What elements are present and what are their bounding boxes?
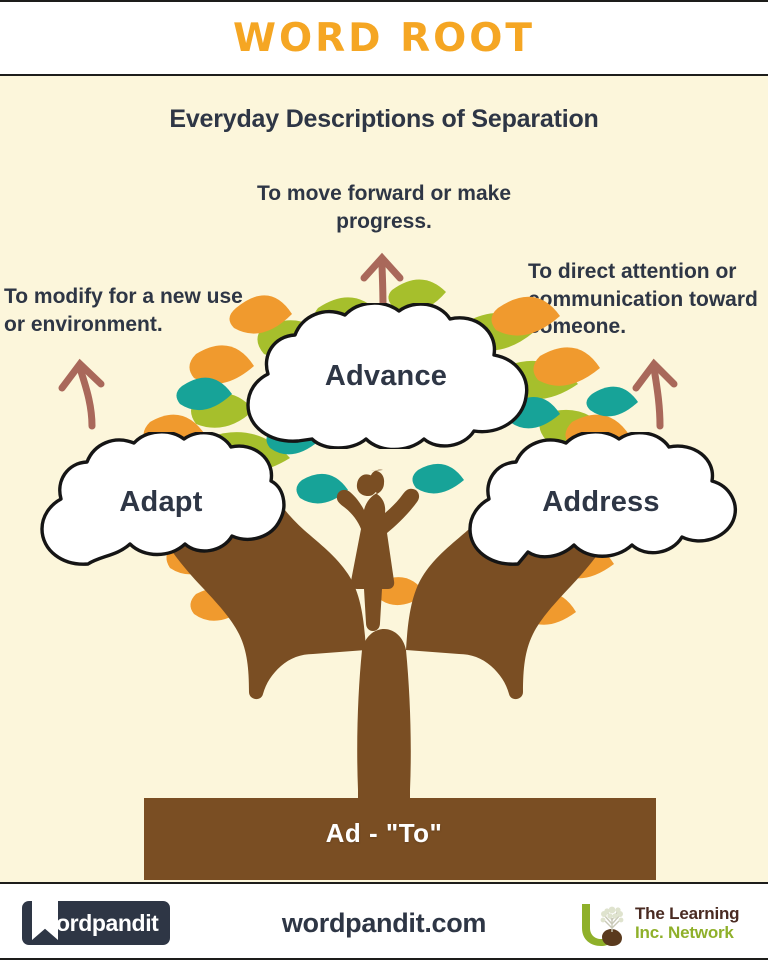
cloud-adapt[interactable]: Adapt [30, 432, 292, 572]
cloud-advance[interactable]: Advance [232, 303, 540, 449]
cloud-address[interactable]: Address [456, 432, 746, 572]
learning-network-text: The Learning Inc. Network [635, 904, 739, 942]
infographic-poster: WORD ROOT Everyday Descriptions of Separ… [0, 0, 768, 960]
root-label: Ad - "To" [0, 818, 768, 849]
learning-network-logo[interactable]: The Learning Inc. Network [574, 898, 750, 948]
cloud-label-adapt: Adapt [119, 486, 202, 519]
page-title: WORD ROOT [233, 19, 535, 58]
partner-line-2: Inc. Network [635, 923, 739, 942]
cloud-label-address: Address [542, 486, 659, 519]
tree-in-u-icon [574, 898, 632, 948]
poster-footer: ordpandit wordpandit.com [0, 882, 768, 960]
poster-subtitle: Everyday Descriptions of Separation [0, 105, 768, 134]
cloud-label-advance: Advance [325, 360, 447, 393]
partner-line-1: The Learning [635, 904, 739, 923]
poster-header: WORD ROOT [0, 0, 768, 76]
